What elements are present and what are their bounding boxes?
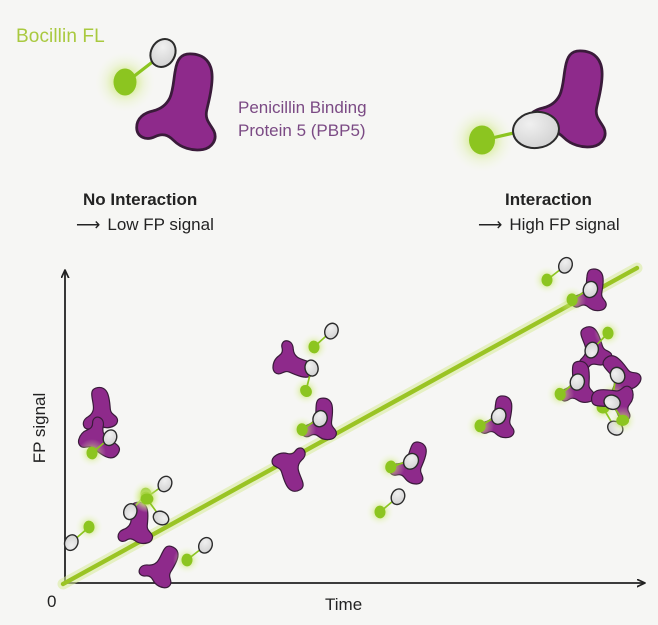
scatter-marker-bocillin: [298, 320, 344, 362]
scatter-bound-complexes: [285, 268, 645, 486]
scatter-marker-bocillin: [172, 535, 216, 575]
scatter-marker-bocillin: [59, 512, 105, 554]
interaction-subtitle-text: High FP signal: [509, 215, 619, 234]
pbp5-label: Penicillin Binding Protein 5 (PBP5): [238, 96, 418, 142]
no-interaction-illustration: [95, 35, 215, 150]
interaction-title: Interaction: [505, 190, 592, 210]
right-arrow-icon: ⟶: [478, 215, 502, 235]
x-axis-label: Time: [325, 595, 362, 615]
scatter-free-proteins: [74, 323, 614, 590]
scatter-marker-complex: [375, 436, 429, 487]
right-arrow-icon: ⟶: [76, 215, 100, 235]
scatter-marker-complex: [465, 396, 514, 441]
interaction-illustration: [450, 51, 605, 172]
no-interaction-title: No Interaction: [83, 190, 197, 210]
bound-bocillin-molecule: [450, 108, 561, 172]
y-axis-label: FP signal: [30, 383, 50, 473]
fp-assay-figure: [0, 0, 658, 625]
no-interaction-subtitle-text: Low FP signal: [107, 215, 213, 234]
no-interaction-subtitle: ⟶Low FP signal: [76, 215, 214, 235]
scatter-marker-bocillin: [364, 486, 409, 527]
scatter-marker-complex: [541, 360, 595, 411]
axis-origin-label: 0: [47, 592, 56, 612]
bocillin-fl-label: Bocillin FL: [16, 26, 105, 48]
interaction-subtitle: ⟶High FP signal: [478, 215, 620, 235]
scatter-marker-complex: [556, 268, 607, 314]
scatter-marker-complex: [285, 397, 337, 445]
